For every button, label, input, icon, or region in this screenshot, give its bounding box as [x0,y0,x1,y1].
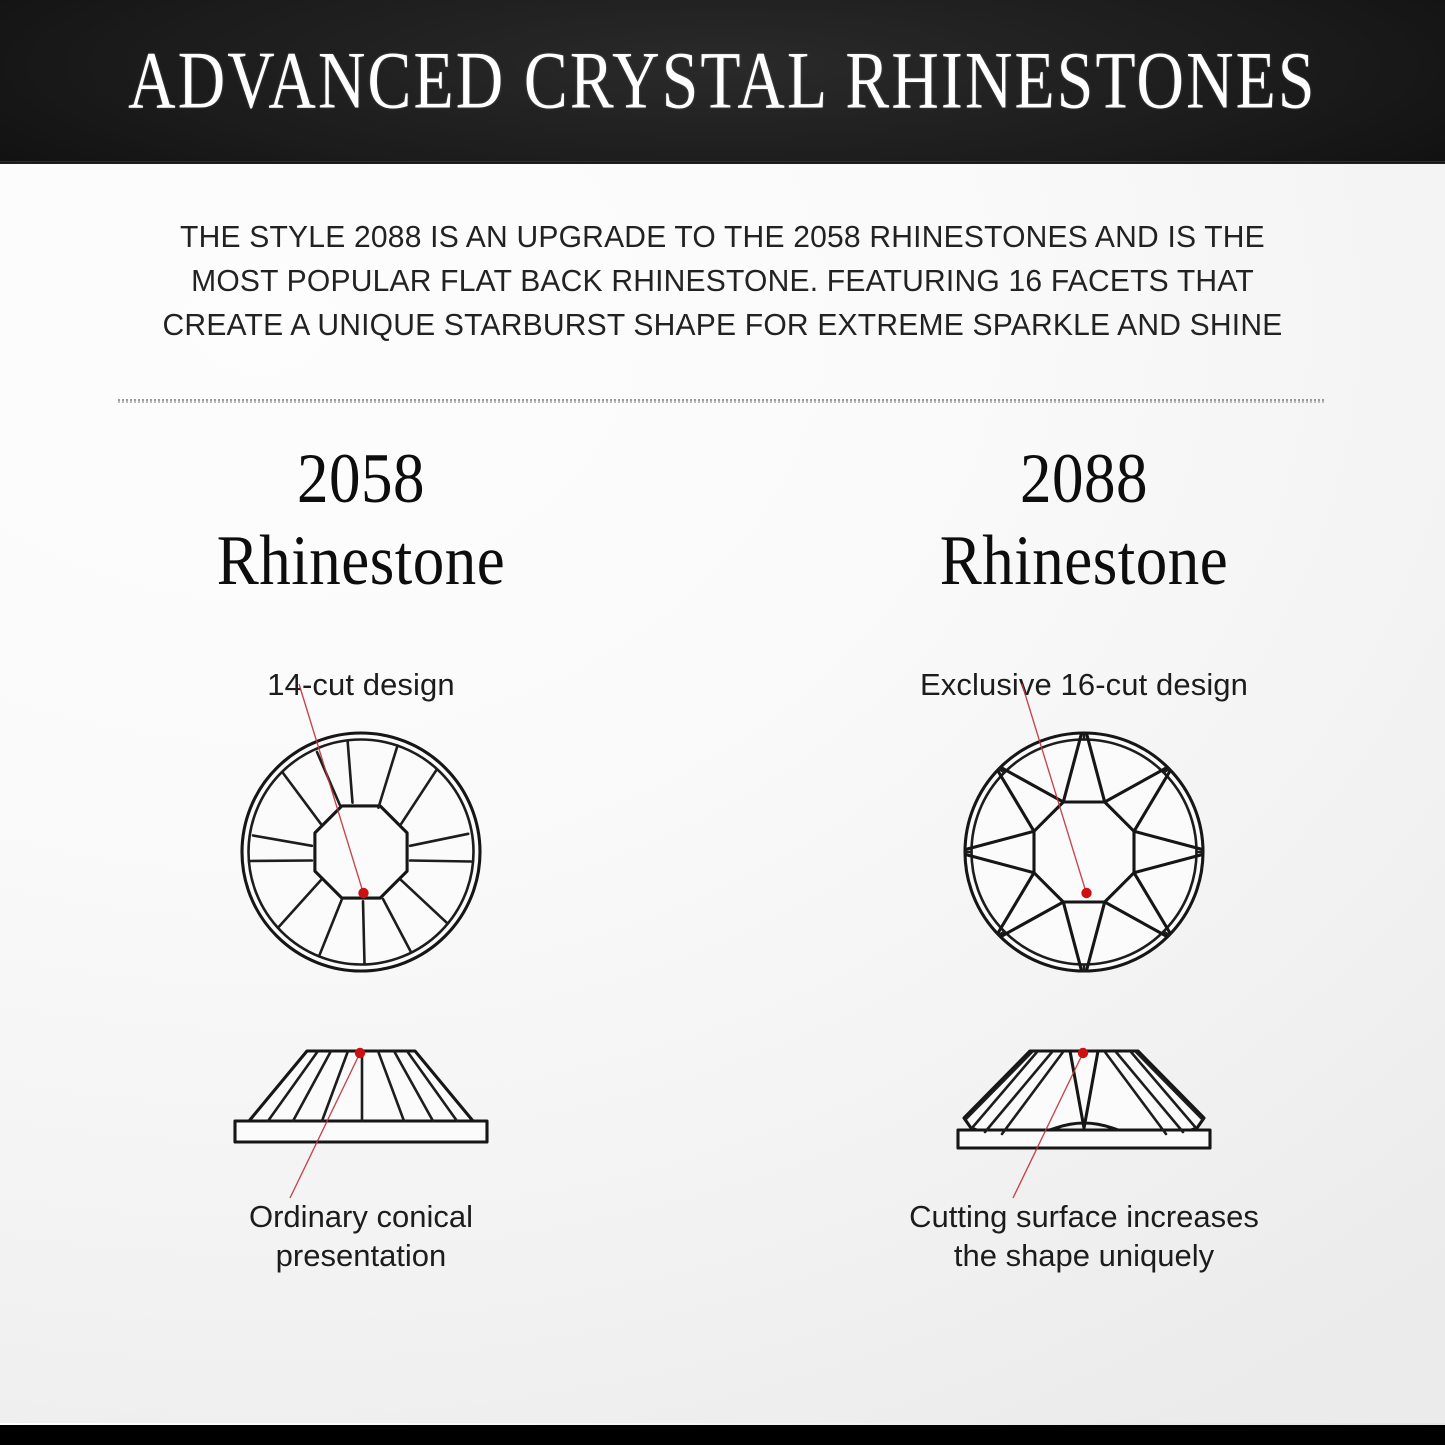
diagram-2088-top-view [934,717,1234,982]
intro-line-1: THE STYLE 2088 IS AN UPGRADE TO THE 2058… [109,216,1335,260]
caption-2088-line-2: the shape uniquely [909,1237,1259,1275]
intro-line-2: MOST POPULAR FLAT BACK RHINESTONE. FEATU… [109,260,1335,304]
header-bottom-edge [0,161,1445,164]
caption-2088: Cutting surface increases the shape uniq… [909,1198,1259,1275]
diagram-2058-top-view [211,717,511,982]
diagram-2058-side-view [211,1038,511,1168]
label-16-cut-design: Exclusive 16-cut design [920,667,1248,703]
heading-2088: 2088 Rhinestone [940,438,1228,602]
footer-bar [0,1425,1445,1445]
diagram-2088-side-view [934,1038,1234,1168]
header-banner: ADVANCED CRYSTAL RHINESTONES [0,0,1445,163]
heading-2088-word: Rhinestone [940,520,1228,602]
heading-2088-number: 2088 [940,438,1228,520]
column-2058: 2058 Rhinestone 14-cut design [0,447,722,1275]
infographic-page: ADVANCED CRYSTAL RHINESTONES THE STYLE 2… [0,0,1445,1445]
caption-2088-line-1: Cutting surface increases [909,1198,1259,1236]
caption-2058-line-1: Ordinary conical [249,1198,473,1236]
caption-2058-line-2: presentation [249,1237,473,1275]
heading-2058-number: 2058 [217,438,505,520]
intro-paragraph: THE STYLE 2088 IS AN UPGRADE TO THE 2058… [109,216,1335,348]
heading-2058-word: Rhinestone [217,520,505,602]
column-2088: 2088 Rhinestone Exclusive 16-cut design [723,447,1445,1275]
page-title: ADVANCED CRYSTAL RHINESTONES [128,41,1316,123]
intro-line-3: CREATE A UNIQUE STARBURST SHAPE FOR EXTR… [109,304,1335,348]
dotted-divider [118,399,1326,402]
label-14-cut-design: 14-cut design [267,667,454,703]
heading-2058: 2058 Rhinestone [217,438,505,602]
caption-2058: Ordinary conical presentation [249,1198,473,1275]
